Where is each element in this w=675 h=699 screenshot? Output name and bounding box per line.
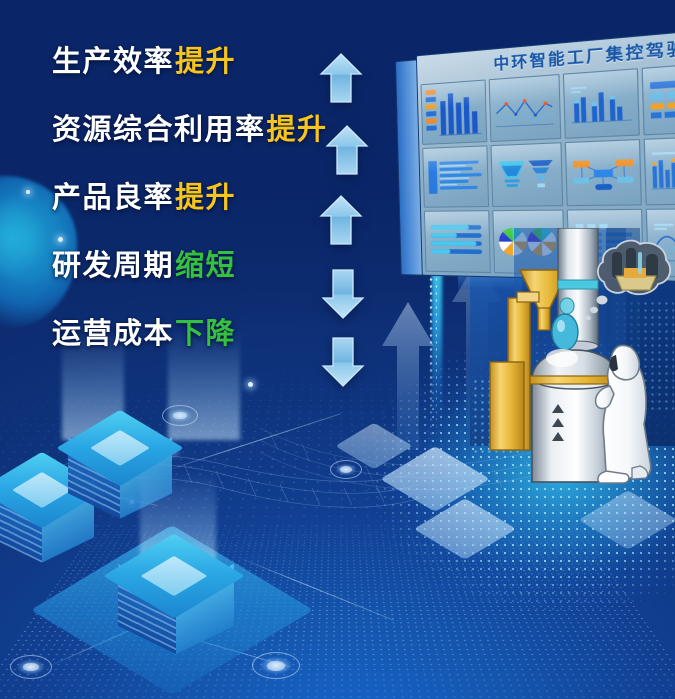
decor-spark-4 <box>248 382 253 387</box>
iso-block-center <box>108 522 238 652</box>
benefit-row-2: 资源综合利用率提升 <box>52 116 328 145</box>
benefit-highlight-1: 提升 <box>175 46 236 78</box>
benefit-highlight-2: 提升 <box>267 114 328 146</box>
factory-illustration <box>484 228 675 488</box>
decor-spark-1 <box>26 190 30 194</box>
benefit-highlight-3: 提升 <box>175 182 236 214</box>
benefit-list: 生产效率提升 资源综合利用率提升 产品良率提升 研发周期缩短 运营成本下降 <box>52 48 328 349</box>
panel-funnel[interactable] <box>491 142 563 207</box>
panel-column-chart[interactable] <box>643 135 675 206</box>
panel-flow-map[interactable] <box>564 139 641 207</box>
panel-line-chart[interactable] <box>489 74 561 142</box>
panel-progress-bars[interactable] <box>424 211 491 274</box>
decor-node-2 <box>252 652 300 679</box>
benefit-row-5: 运营成本下降 <box>52 320 328 349</box>
decor-node-4 <box>330 460 362 479</box>
benefit-label-1: 生产效率 <box>52 46 174 78</box>
benefit-highlight-4: 缩短 <box>175 250 236 282</box>
panel-kpi-tiles[interactable] <box>641 62 675 135</box>
benefit-label-4: 研发周期 <box>52 250 174 282</box>
panel-data-list[interactable] <box>422 145 489 208</box>
benefit-label-5: 运营成本 <box>52 318 174 350</box>
decor-light-beam-dots <box>428 262 437 448</box>
benefit-label-2: 资源综合利用率 <box>52 114 266 146</box>
benefit-row-3: 产品良率提升 <box>52 184 328 213</box>
benefit-row-1: 生产效率提升 <box>52 48 328 77</box>
benefit-row-4: 研发周期缩短 <box>52 252 328 281</box>
poster-canvas: 中环智能工厂集控驾驶 <box>0 0 675 699</box>
benefit-highlight-5: 下降 <box>175 318 236 350</box>
decor-node-1 <box>10 655 52 679</box>
panel-bar-group[interactable] <box>562 68 639 138</box>
panel-bar-chart[interactable] <box>421 79 488 144</box>
benefit-label-3: 产品良率 <box>52 182 174 214</box>
arrow-up-icon-2 <box>324 124 370 178</box>
